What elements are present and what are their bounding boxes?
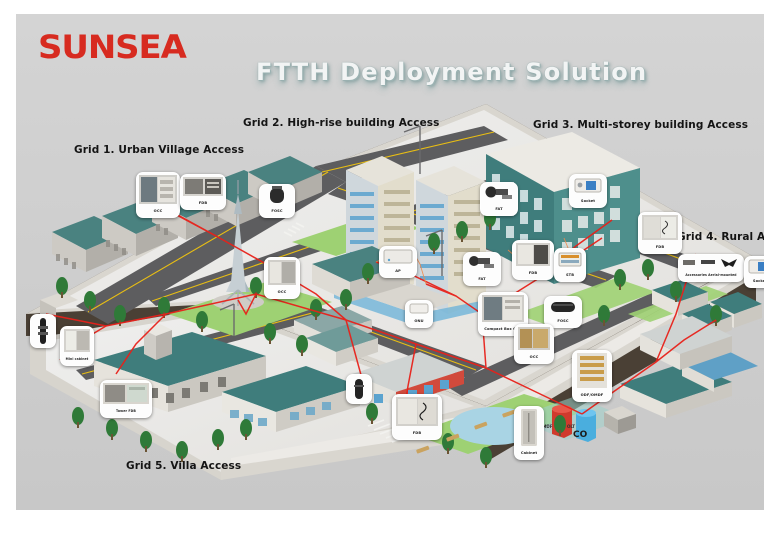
callout-fat-multistorey[interactable]: FAT [480,182,518,216]
callout-label: AP [380,266,416,277]
co-label: CO [573,430,587,440]
callout-label: OCC [137,206,179,217]
callout-label: FDB [393,428,441,439]
callout-fdb-crossing[interactable]: FDB [392,394,442,440]
callout-label: FDB [181,198,225,209]
callout-fdb-multistorey[interactable]: FDB [512,240,554,280]
page-title: FTTH Deployment Solution [256,58,647,86]
accessories-icon [679,255,743,270]
socket-icon [745,257,764,276]
stb-icon [555,249,585,270]
callout-label: Socket [570,196,606,207]
callout-onu-highrise[interactable]: ONU [405,300,433,328]
callout-label: FAT [464,274,500,285]
callout-fosc-mid[interactable]: FOSC [544,296,582,328]
callout-label: Tower FDB [101,406,151,417]
callout-fdb-village[interactable]: FDB [180,174,226,210]
callout-fdb-rural[interactable]: FDB [638,212,682,254]
callout-label: FOSC [260,206,294,217]
callout-label: FAT [481,204,517,215]
callout-mini-cabinet[interactable]: Mini cabinet [60,326,94,366]
brand-logo: SUNSEA [38,28,186,66]
diagram-canvas: SUNSEA FTTH Deployment Solution Grid 1. … [16,14,764,510]
callout-label: FDB [513,268,553,279]
tall-cabinet-icon [515,407,543,448]
splice-tray-icon [181,175,225,198]
cabinet-open-icon [513,241,553,268]
connectors-icon [481,183,517,204]
olt-tank-label: OLT [567,424,575,429]
dome-closure-icon [545,297,581,316]
cabinet-open-icon [515,325,553,352]
inline-closure-icon [31,315,55,347]
fdb-panel-icon [101,381,151,406]
callout-occ-village-1[interactable]: OCC [136,172,180,218]
callout-accessories-aerial[interactable]: Accessories Aerial-mounted [678,254,744,282]
callout-label: OCC [265,287,299,298]
callout-label: STB [555,270,585,281]
callout-occ-mid[interactable]: OCC [514,324,554,364]
cabinet-open-icon [61,327,93,354]
cabinet-open-icon [393,395,441,428]
callout-odf-omdf[interactable]: ODF/OMDF [572,350,612,402]
grid-2-caption: Grid 2. High-rise building Access [243,117,440,129]
callout-fosc-villa[interactable] [346,374,372,404]
cabinet-open-icon [479,293,527,324]
cabinet-open-icon [137,173,179,206]
callout-label: Accessories Aerial-mounted [679,270,743,281]
cabinet-open-icon [265,258,299,287]
callout-ap-highrise[interactable]: AP [379,246,417,278]
socket-icon [570,175,606,196]
callout-occ-village-2[interactable]: OCC [264,257,300,299]
callout-label: Cabinet [515,448,543,459]
poster: SUNSEA FTTH Deployment Solution Grid 1. … [0,0,780,534]
callout-label: Mini cabinet [61,354,93,365]
callout-label: Socket [745,276,764,287]
odf-rack-icon [573,351,611,390]
cabinet-open-icon [639,213,681,242]
callout-socket-multistorey[interactable]: Socket [569,174,607,208]
grid-3-caption: Grid 3. Multi-storey building Access [533,119,748,131]
callout-socket-rural[interactable]: Socket [744,256,764,288]
callout-label: FDB [639,242,681,253]
wall-box-icon [380,247,416,266]
callout-tower-fdb[interactable]: Tower FDB [100,380,152,418]
onu-box-icon [406,301,432,316]
callout-stb-multistorey[interactable]: STB [554,248,586,282]
dome-closure-icon [347,375,371,403]
callout-cabinet-park[interactable]: Cabinet [514,406,544,460]
callout-label: OCC [515,352,553,363]
callout-label: ODF/OMDF [573,390,611,401]
callout-fat-highrise[interactable]: FAT [463,252,501,286]
dome-closure-icon [260,185,294,206]
callout-pole-closure[interactable] [30,314,56,348]
street-cabinet [144,324,172,360]
callout-fosc-village[interactable]: FOSC [259,184,295,218]
connectors-icon [464,253,500,274]
grid-4-caption: Grid 4. Rural Access [677,231,764,243]
grid-5-caption: Grid 5. Villa Access [126,460,241,472]
grid-1-caption: Grid 1. Urban Village Access [74,144,244,156]
callout-label: ONU [406,316,432,327]
